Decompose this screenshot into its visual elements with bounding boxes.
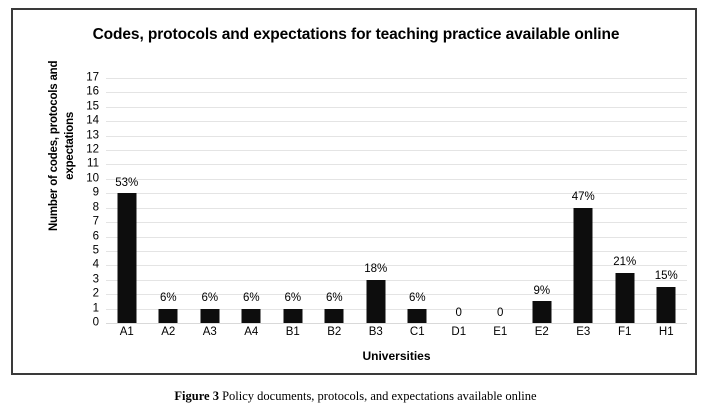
- plot-wrapper: 17161514131211109876543210 53%6%6%6%6%6%…: [75, 78, 687, 323]
- bar-slot[interactable]: 6%: [148, 78, 190, 323]
- y-axis-tick-labels: 17161514131211109876543210: [75, 78, 99, 323]
- x-axis-tick-label: C1: [397, 327, 439, 339]
- bar-data-label: 0: [456, 308, 462, 320]
- bar-data-label: 6%: [409, 293, 426, 305]
- bar-data-label: 47%: [572, 192, 595, 204]
- x-axis-tick-label: A3: [189, 327, 231, 339]
- bar[interactable]: [532, 301, 551, 323]
- x-axis-tick-label: E3: [563, 327, 605, 339]
- y-axis-tick-label: 16: [75, 87, 99, 99]
- bar-data-label: 6%: [160, 293, 177, 305]
- bar[interactable]: [283, 309, 302, 323]
- figure-caption-text: Policy documents, protocols, and expecta…: [219, 389, 537, 403]
- bar-data-label: 9%: [533, 286, 550, 298]
- bar-slot[interactable]: 15%: [646, 78, 688, 323]
- bar-data-label: 21%: [613, 257, 636, 269]
- bar-data-label: 6%: [284, 293, 301, 305]
- bar[interactable]: [242, 309, 261, 323]
- y-axis-tick-label: 9: [75, 188, 99, 200]
- y-axis-tick-label: 10: [75, 173, 99, 185]
- y-axis-tick-label: 2: [75, 288, 99, 300]
- bar[interactable]: [117, 193, 136, 323]
- y-axis-tick-label: 1: [75, 303, 99, 315]
- y-axis-tick-label: 8: [75, 202, 99, 214]
- bar-data-label: 6%: [201, 293, 218, 305]
- figure-caption-label: Figure 3: [174, 389, 219, 403]
- bar[interactable]: [325, 309, 344, 323]
- bar-slot[interactable]: 21%: [604, 78, 646, 323]
- x-axis-tick-label: E2: [521, 327, 563, 339]
- bar-slot[interactable]: 0: [480, 78, 522, 323]
- y-axis-tick-label: 17: [75, 72, 99, 84]
- bar[interactable]: [657, 287, 676, 323]
- figure-frame: Codes, protocols and expectations for te…: [11, 8, 697, 375]
- y-axis-tick-label: 12: [75, 144, 99, 156]
- bar[interactable]: [615, 273, 634, 323]
- y-axis-tick-label: 5: [75, 245, 99, 257]
- x-axis-tick-label: B2: [314, 327, 356, 339]
- bar[interactable]: [574, 208, 593, 323]
- x-axis-tick-label: A2: [148, 327, 190, 339]
- x-axis-tick-label: A1: [106, 327, 148, 339]
- bar[interactable]: [200, 309, 219, 323]
- bar-data-label: 15%: [655, 271, 678, 283]
- bar-data-label: 18%: [364, 264, 387, 276]
- x-axis-tick-label: B1: [272, 327, 314, 339]
- x-axis-tick-label: E1: [480, 327, 522, 339]
- bar-series: 53%6%6%6%6%6%18%6%009%47%21%15%: [106, 78, 687, 323]
- x-axis-tick-label: A4: [231, 327, 273, 339]
- x-axis-tick-label: H1: [646, 327, 688, 339]
- bar-slot[interactable]: 18%: [355, 78, 397, 323]
- bar[interactable]: [366, 280, 385, 323]
- bar-data-label: 0: [497, 308, 503, 320]
- figure-caption: Figure 3 Policy documents, protocols, an…: [0, 389, 711, 404]
- bar-slot[interactable]: 6%: [314, 78, 356, 323]
- y-axis-tick-label: 3: [75, 274, 99, 286]
- plot-area: 53%6%6%6%6%6%18%6%009%47%21%15%: [106, 78, 687, 323]
- bar-slot[interactable]: 6%: [189, 78, 231, 323]
- bar-data-label: 6%: [326, 293, 343, 305]
- x-axis-title: Universities: [106, 349, 687, 363]
- y-axis-title-line1: Number of codes, protocols and: [47, 36, 63, 256]
- bar-data-label: 53%: [115, 178, 138, 190]
- y-axis-tick-label: 13: [75, 130, 99, 142]
- y-axis-tick-label: 14: [75, 115, 99, 127]
- bar-slot[interactable]: 0: [438, 78, 480, 323]
- x-axis-tick-label: B3: [355, 327, 397, 339]
- bar-slot[interactable]: 6%: [272, 78, 314, 323]
- gridline: [106, 323, 687, 324]
- bar-slot[interactable]: 53%: [106, 78, 148, 323]
- y-axis-tick-label: 7: [75, 216, 99, 228]
- chart-title: Codes, protocols and expectations for te…: [73, 24, 639, 46]
- bar-slot[interactable]: 6%: [231, 78, 273, 323]
- y-axis-tick-label: 11: [75, 159, 99, 171]
- y-axis-tick-label: 15: [75, 101, 99, 113]
- x-axis-tick-labels: A1A2A3A4B1B2B3C1D1E1E2E3F1H1: [106, 327, 687, 339]
- bar-data-label: 6%: [243, 293, 260, 305]
- bar-slot[interactable]: 47%: [563, 78, 605, 323]
- bar[interactable]: [408, 309, 427, 323]
- y-axis-tick-label: 0: [75, 317, 99, 329]
- y-axis-tick-label: 6: [75, 231, 99, 243]
- bar-slot[interactable]: 6%: [397, 78, 439, 323]
- bar-slot[interactable]: 9%: [521, 78, 563, 323]
- y-axis-tick-label: 4: [75, 260, 99, 272]
- bar[interactable]: [159, 309, 178, 323]
- x-axis-tick-label: F1: [604, 327, 646, 339]
- x-axis-tick-label: D1: [438, 327, 480, 339]
